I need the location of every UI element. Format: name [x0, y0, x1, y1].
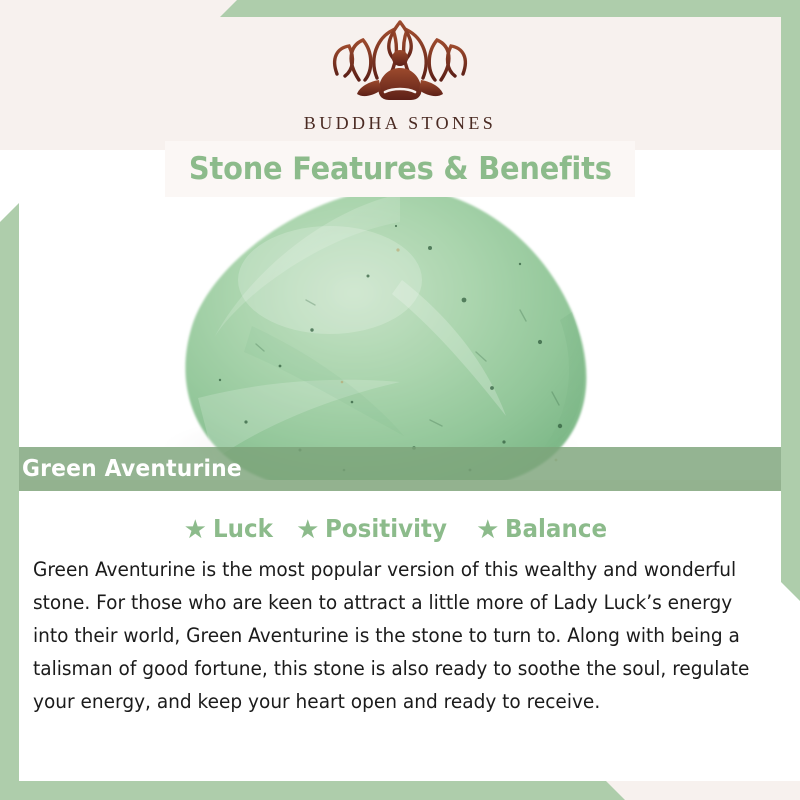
benefit-item-positivity: ★ Positivity: [296, 514, 458, 543]
benefit-label: Luck: [213, 514, 273, 543]
star-icon: ★: [296, 516, 319, 542]
frame-accent-right: [781, 0, 800, 601]
benefit-label: Balance: [505, 514, 607, 543]
page-title: Stone Features & Benefits: [189, 151, 612, 187]
star-icon: ★: [476, 516, 499, 542]
section-title-band: Stone Features & Benefits: [165, 141, 635, 197]
infographic-page: BUDDHA STONES Stone Features & Benefits …: [0, 0, 800, 800]
description-text: Green Aventurine is the most popular ver…: [33, 553, 761, 718]
benefit-item-balance: ★ Balance: [476, 514, 616, 543]
benefits-list: ★ Luck ★ Positivity ★ Balance: [0, 491, 800, 543]
star-icon: ★: [184, 516, 207, 542]
content-panel: ★ Luck ★ Positivity ★ Balance Green Aven…: [0, 491, 800, 781]
stone-name-bar: Green Aventurine: [0, 447, 800, 491]
frame-accent-left: [0, 203, 19, 800]
frame-accent-top: [220, 0, 800, 17]
page-header: BUDDHA STONES: [0, 0, 800, 150]
lotus-meditation-icon: [315, 18, 485, 110]
benefit-label: Positivity: [325, 514, 447, 543]
green-aventurine-stone-photo: [0, 150, 800, 480]
frame-accent-bottom: [0, 781, 625, 800]
benefit-item-luck: ★ Luck: [184, 514, 279, 543]
product-photo: [0, 150, 800, 480]
stone-name: Green Aventurine: [22, 456, 242, 482]
brand-logo: BUDDHA STONES: [0, 18, 800, 134]
brand-name: BUDDHA STONES: [304, 113, 496, 134]
